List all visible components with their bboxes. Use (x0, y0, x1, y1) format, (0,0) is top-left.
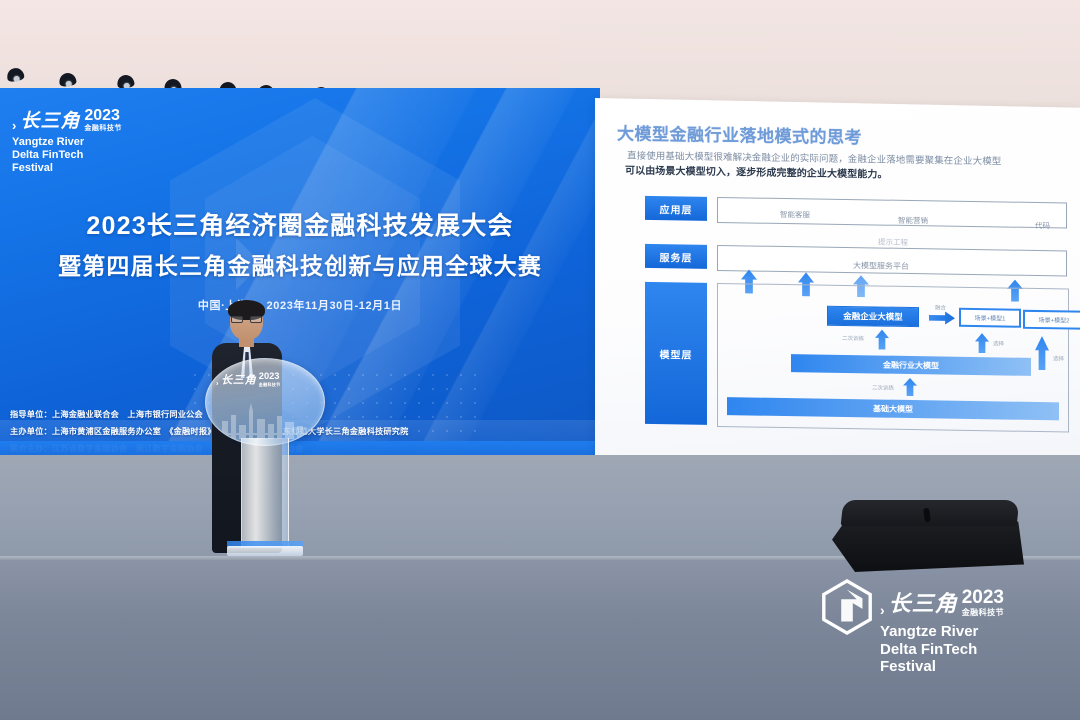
event-date: 2023年11月30日-12月1日 (267, 297, 403, 313)
watermark-cn-name: 长三角 (889, 586, 958, 618)
festival-hexagon-logo-icon (818, 578, 876, 636)
conference-photo: › 长三角 2023 金融科技节 Yangtze River Delta Fin… (0, 0, 1080, 720)
app-item-code: 代码 (1035, 220, 1050, 231)
logo-cn-subtitle: 金融科技节 (259, 381, 281, 387)
back-wall (560, 0, 1080, 110)
scene-model-box-1: 场景+模型1 (959, 308, 1021, 328)
service-item-prompt-engineering: 提示工程 (878, 237, 908, 248)
arrow-label-secondary-training: 二次训练 (872, 383, 894, 391)
podium: › 长三角 2023 金融科技节 (205, 358, 325, 563)
logo-cn-name: 长三角 (20, 106, 80, 133)
city-skyline-graphic (216, 399, 316, 439)
arrow-label-secondary-training: 二次训练 (842, 334, 864, 342)
slide-content: 大模型金融行业落地模式的思考 直接使用基础大模型很难解决金融企业的实际问题，金融… (595, 99, 1080, 472)
festival-logo-backdrop: › 长三角 2023 金融科技节 Yangtze River Delta Fin… (12, 106, 122, 175)
arrow-label-selection: 选择 (1053, 354, 1064, 362)
layer-tag-service: 服务层 (645, 244, 707, 269)
watermark-en-line3: Festival (880, 658, 1004, 676)
event-title-line1: 2023长三角经济圈金融科技发展大会 (0, 206, 600, 242)
arrow-label-fusion: 融合 (935, 303, 946, 311)
watermark-text: › 长三角 2023 金融科技节 Yangtze River Delta Fin… (880, 586, 1004, 676)
logo-en-line2: Delta FinTech (12, 149, 122, 162)
monitor-top (841, 500, 1020, 526)
projection-screen: 大模型金融行业落地模式的思考 直接使用基础大模型很难解决金融企业的实际问题，金融… (595, 98, 1080, 473)
app-item-smart-marketing: 智能营销 (898, 215, 928, 226)
podium-branded-panel: › 长三角 2023 金融科技节 (205, 358, 325, 446)
logo-year: 2023 (84, 108, 120, 123)
enterprise-model-box: 金融企业大模型 (827, 306, 919, 327)
layer-tag-application: 应用层 (645, 196, 707, 221)
event-title-line2: 暨第四届长三角金融科技创新与应用全球大赛 (0, 247, 600, 281)
festival-logo-podium: › 长三角 2023 金融科技节 (216, 371, 280, 387)
festival-watermark: › 长三角 2023 金融科技节 Yangtze River Delta Fin… (818, 578, 1068, 708)
watermark-year: 2023 (962, 589, 1004, 607)
logo-arrow-icon: › (216, 378, 218, 387)
arrow-label-selection: 选择 (993, 339, 1004, 347)
podium-column (241, 438, 289, 548)
watermark-en-line2: Delta FinTech (880, 641, 1004, 659)
logo-en-line1: Yangtze River (12, 136, 122, 149)
logo-cn-subtitle: 金融科技节 (84, 123, 122, 133)
slide-body-line2: 可以由场景大模型切入，逐步形成完整的企业大模型能力。 (625, 162, 888, 181)
watermark-en-line1: Yangtze River (880, 623, 1004, 641)
app-item-smart-service: 智能客服 (780, 209, 810, 220)
application-layer-box (717, 197, 1067, 228)
logo-arrow-icon: › (12, 118, 16, 133)
slide-title: 大模型金融行业落地模式的思考 (617, 119, 862, 148)
podium-base (227, 546, 303, 556)
monitor-body (832, 518, 1024, 572)
speaker-glasses (230, 316, 263, 323)
watermark-cn-subtitle: 金融科技节 (962, 607, 1005, 618)
service-item-platform: 大模型服务平台 (853, 260, 909, 272)
logo-year: 2023 (259, 372, 280, 381)
layer-tag-model: 模型层 (645, 282, 707, 425)
event-title-block: 2023长三角经济圈金融科技发展大会 暨第四届长三角金融科技创新与应用全球大赛 … (0, 206, 600, 313)
scene-model-box-2: 场景+模型2 (1023, 310, 1080, 330)
stage-monitor-speaker (828, 500, 1028, 578)
logo-arrow-icon: › (880, 602, 885, 618)
industry-model-bar: 金融行业大模型 (791, 354, 1031, 376)
logo-cn-name: 长三角 (221, 371, 256, 387)
logo-en-line3: Festival (12, 162, 122, 175)
